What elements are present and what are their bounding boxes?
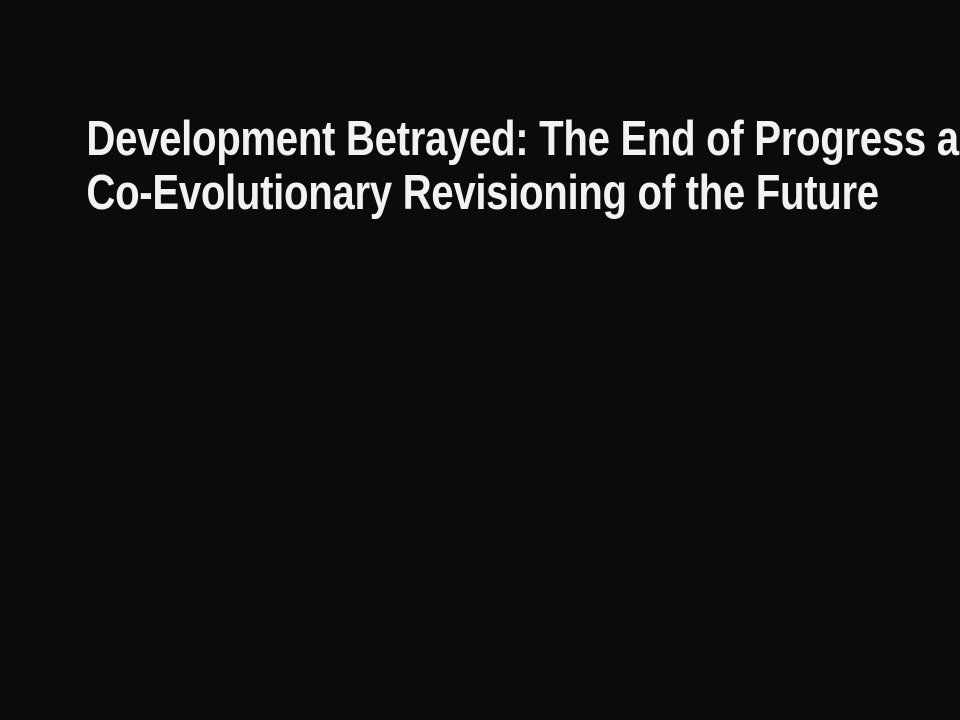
book-cover-title-card: Development Betrayed: The End of Progres… bbox=[0, 0, 960, 720]
title-line-1: Development Betrayed: The End of Progres… bbox=[86, 112, 873, 166]
title-line-2: Co-Evolutionary Revisioning of the Futur… bbox=[86, 166, 873, 220]
page-title: Development Betrayed: The End of Progres… bbox=[0, 112, 960, 220]
